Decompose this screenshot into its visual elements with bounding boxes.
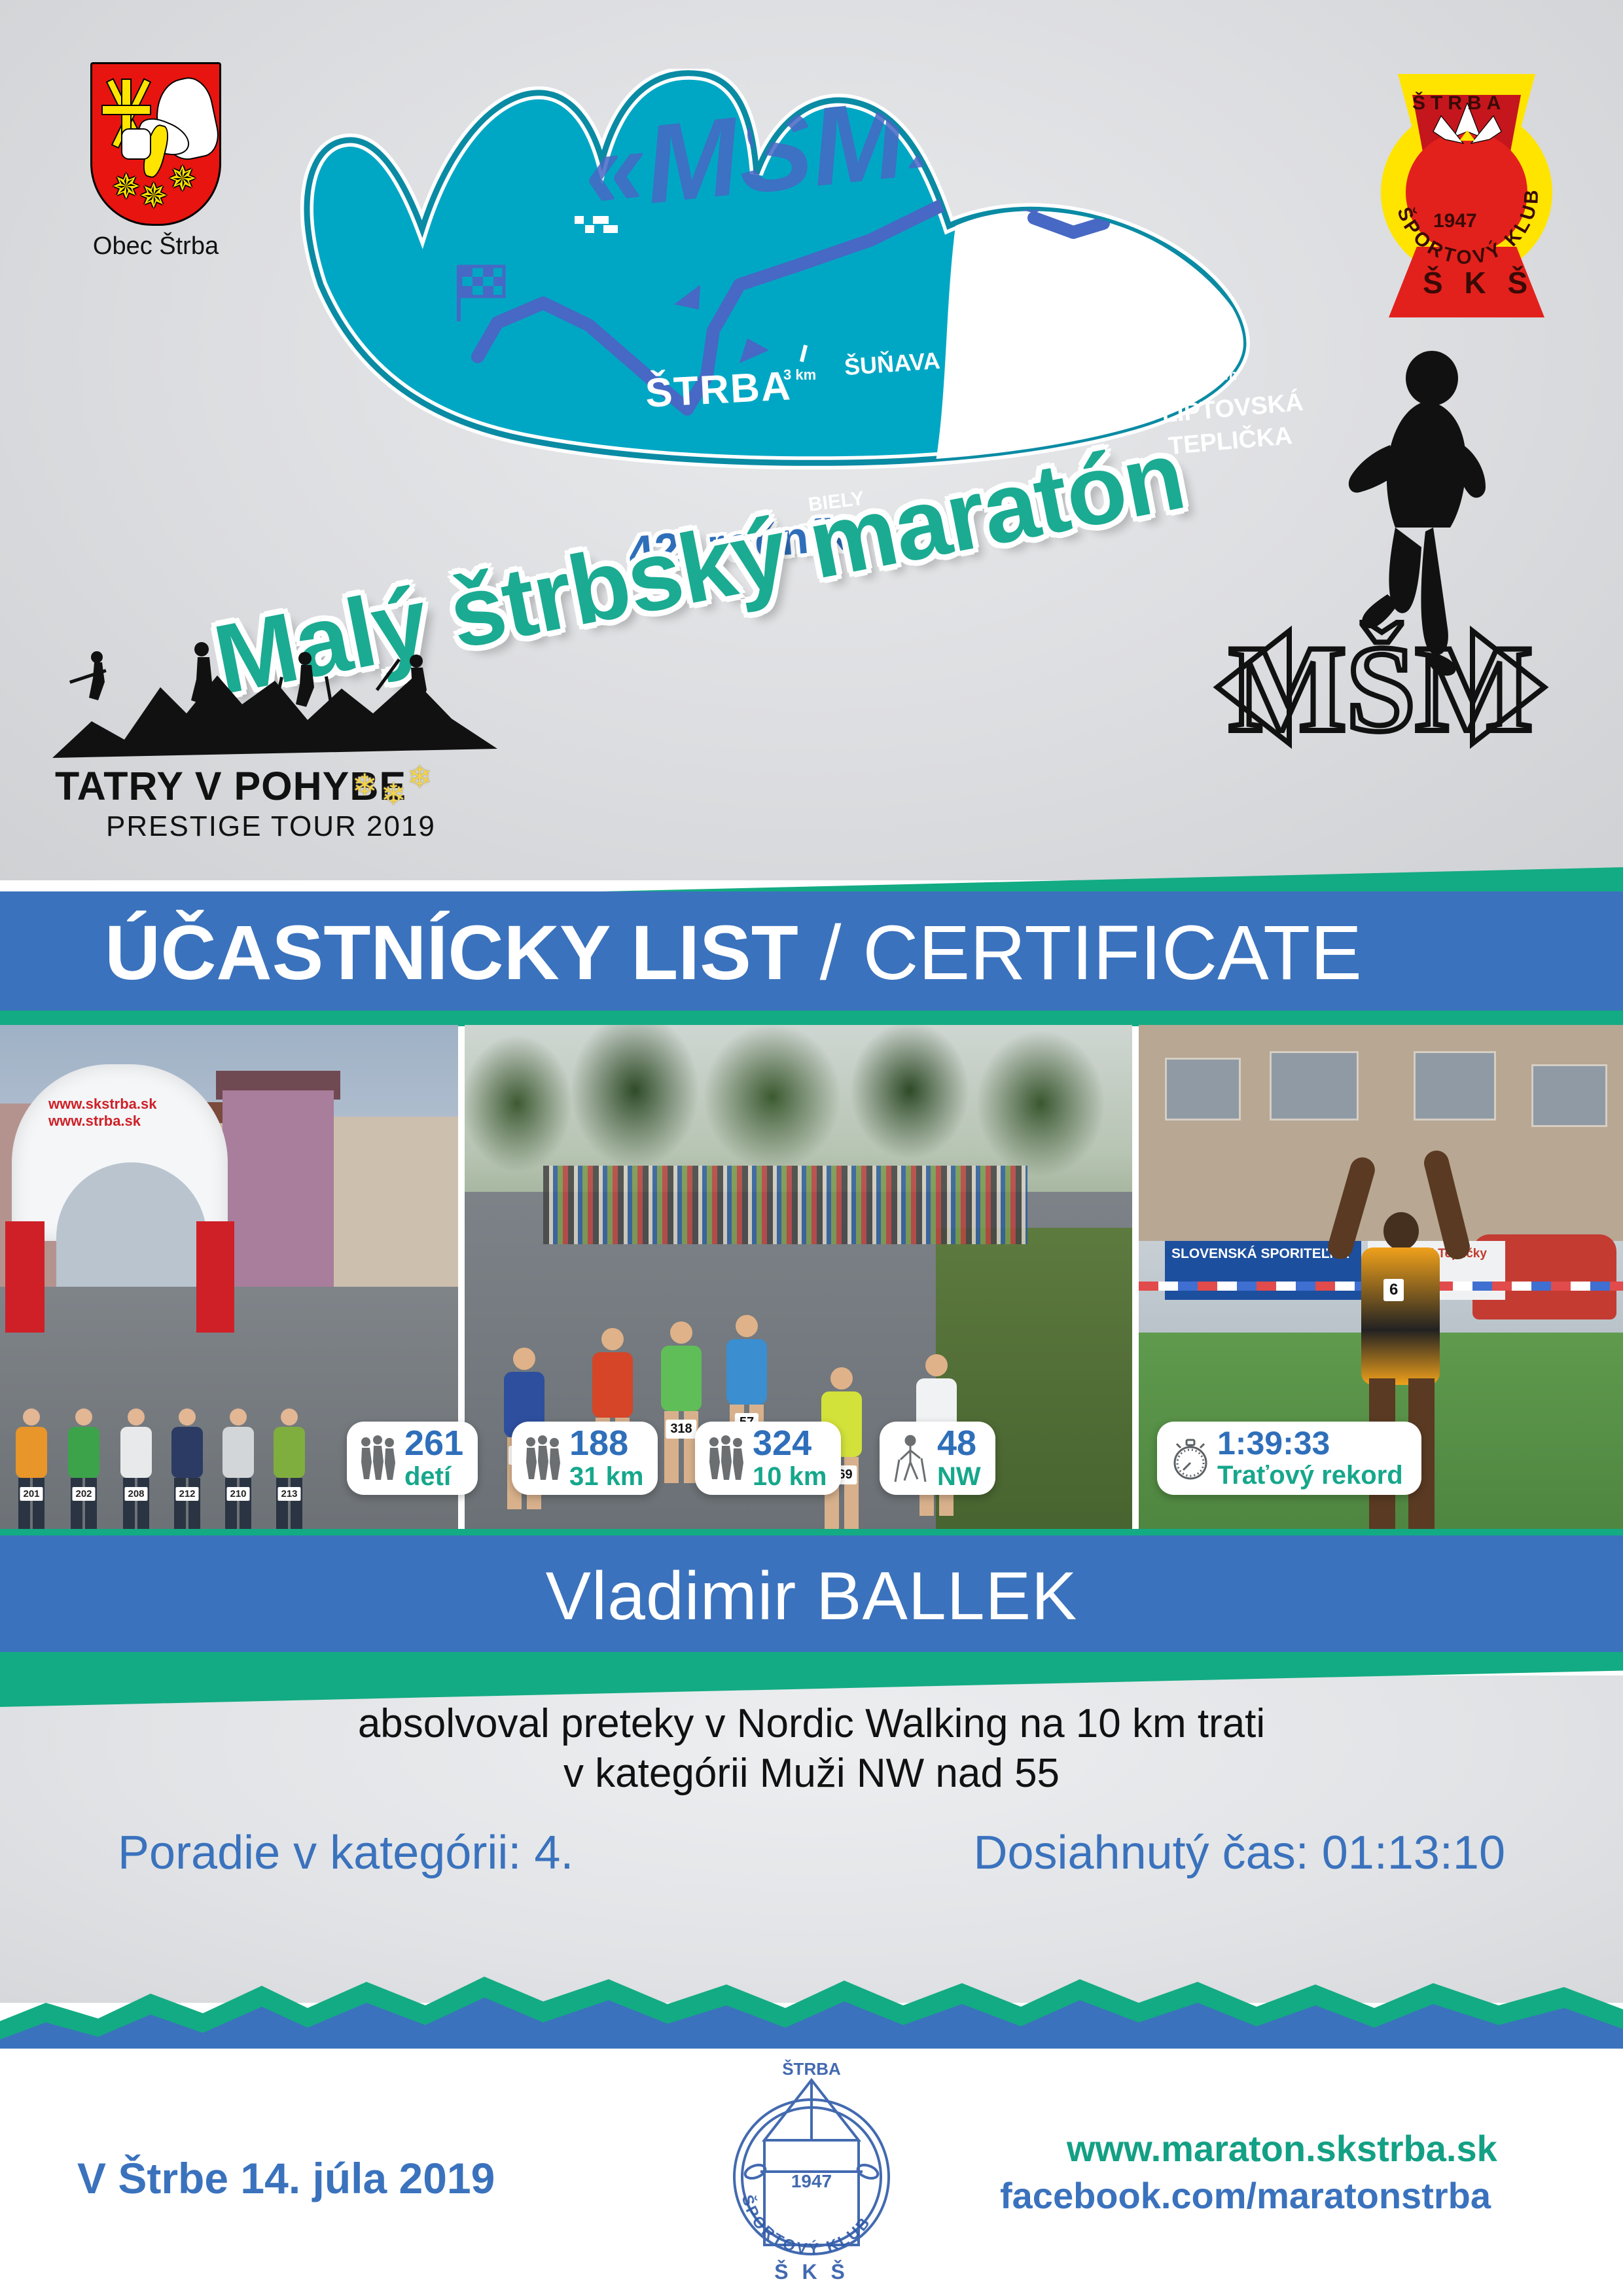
stat-label: NW	[937, 1463, 981, 1490]
arch-url-2: www.strba.sk	[48, 1113, 141, 1130]
certificate-heading: ÚČASTNÍCKY LIST / CERTIFICATE	[105, 908, 1362, 997]
map-label-strba: ŠTRBA	[644, 363, 793, 417]
mountain-range-icon	[46, 641, 504, 772]
stat-number: 261	[404, 1427, 463, 1460]
detail-line-2: v kategórii Muži NW nad 55	[0, 1750, 1623, 1797]
certificate-page: ✵ ✵ ✵ Obec Štrba	[0, 0, 1623, 2296]
bib-number: 6	[1383, 1279, 1404, 1301]
results-row: Poradie v kategórii: 4. Dosiahnutý čas: …	[0, 1826, 1623, 1880]
green-divider	[0, 1011, 1623, 1026]
tour-subtitle: PRESTIGE TOUR 2019	[106, 810, 436, 843]
footer-website[interactable]: www.maraton.skstrba.sk	[1067, 2127, 1497, 2170]
certificate-heading-sep: /	[798, 910, 863, 996]
coat-of-arms-icon: ✵ ✵ ✵	[90, 62, 221, 226]
participant-name-bar: Vladimir BALLEK	[0, 1535, 1623, 1652]
edelweiss-icon: ❄	[407, 759, 433, 795]
stamp-abbrev: Š K Š	[774, 2260, 849, 2284]
participant-name: Vladimir BALLEK	[0, 1558, 1623, 1636]
certificate-heading-bar: ÚČASTNÍCKY LIST / CERTIFICATE	[0, 891, 1623, 1011]
crest-label: Obec Štrba	[71, 232, 241, 260]
sks-abbrev: Š K Š	[1423, 265, 1534, 300]
detail-line-1: absolvoval preteky v Nordic Walking na 1…	[0, 1700, 1623, 1747]
edelweiss-icon: ❄	[352, 767, 378, 802]
stamp-year: 1947	[791, 2171, 832, 2191]
stamp-top-text: ŠTRBA	[782, 2059, 841, 2079]
stat-badge-10km: 324 10 km	[695, 1422, 841, 1495]
record-label: Traťový rekord	[1217, 1462, 1403, 1488]
start-arch	[12, 1064, 228, 1241]
map-marker-3km: 3 km	[783, 367, 816, 384]
map-marker-15km: 15 km	[1196, 367, 1237, 384]
stat-badge-nw: 48 NW	[880, 1422, 995, 1495]
svg-text:MŠM: MŠM	[1229, 620, 1533, 758]
official-stamp: ŠTRBA 1947 Š K Š ŠPORTOVÝ KLUB	[687, 2049, 936, 2296]
certificate-heading-en: CERTIFICATE	[863, 910, 1362, 996]
kids-running-icon	[357, 1433, 398, 1483]
stat-badge-course-record: 1:39:33 Traťový rekord	[1157, 1422, 1421, 1495]
nordic-walking-icon	[890, 1433, 931, 1483]
stat-number: 324	[753, 1427, 827, 1460]
sks-club-logo: ŠTRBA 1947 ŠPORTOVÝ KLUB Š K Š	[1355, 69, 1577, 317]
stat-label: 31 km	[569, 1463, 643, 1490]
stat-number: 48	[937, 1427, 981, 1460]
msm-logo-icon: MŠM	[1211, 609, 1551, 766]
stamp-arc-text: ŠPORTOVÝ KLUB	[738, 2193, 875, 2258]
svg-text:ŠPORTOVÝ KLUB: ŠPORTOVÝ KLUB	[738, 2193, 875, 2258]
stopwatch-icon	[1170, 1433, 1211, 1483]
runners-icon	[522, 1433, 563, 1483]
stat-badge-deti: 261 detí	[347, 1422, 478, 1495]
stat-badge-31km: 188 31 km	[512, 1422, 658, 1495]
map-marker-10km: 10 km	[1070, 401, 1111, 418]
stat-number: 188	[569, 1427, 643, 1460]
finish-time: Dosiahnutý čas: 01:13:10	[973, 1826, 1505, 1880]
tatry-v-pohybe-logo: TATRY V POHYBE ❄ ❄ ❄ PRESTIGE TOUR 2019	[46, 648, 504, 844]
hero-section: ✵ ✵ ✵ Obec Štrba	[0, 0, 1623, 880]
runners-icon	[705, 1433, 746, 1483]
footer-facebook[interactable]: facebook.com/maratonstrba	[1000, 2174, 1491, 2217]
arch-url-1: www.skstrba.sk	[48, 1096, 156, 1113]
certificate-heading-sk: ÚČASTNÍCKY LIST	[105, 910, 798, 996]
category-rank: Poradie v kategórii: 4.	[118, 1826, 573, 1880]
green-accent-band-bottom	[0, 1652, 1623, 1707]
footer-date: V Štrbe 14. júla 2019	[77, 2153, 495, 2203]
stat-label: detí	[404, 1463, 463, 1490]
stat-label: 10 km	[753, 1463, 827, 1490]
svg-text:ŠPORTOVÝ KLUB: ŠPORTOVÝ KLUB	[1393, 186, 1543, 268]
obec-strba-crest: ✵ ✵ ✵ Obec Štrba	[71, 62, 241, 260]
edelweiss-icon: ❄	[381, 776, 406, 812]
stats-badges: 261 detí 188 31 km	[0, 1422, 1623, 1507]
record-time: 1:39:33	[1217, 1428, 1403, 1460]
sks-arc-text: ŠPORTOVÝ KLUB	[1381, 107, 1552, 278]
